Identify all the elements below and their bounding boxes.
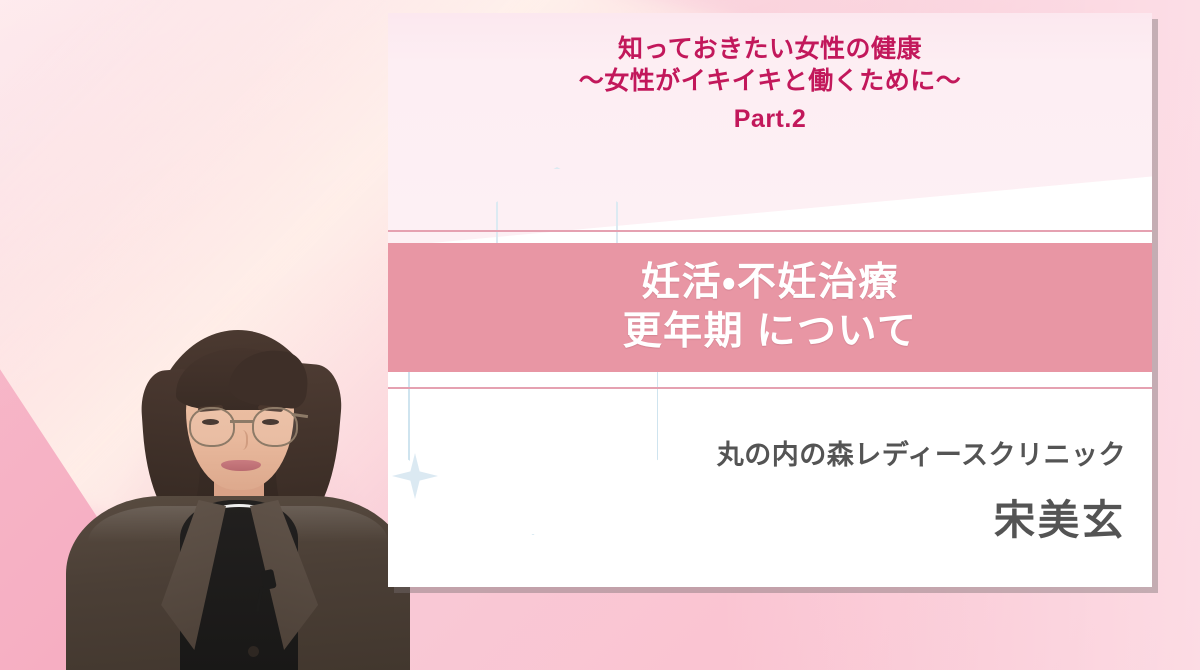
divider-below-banner xyxy=(388,387,1152,389)
slide-title-line-1: 知っておきたい女性の健康 xyxy=(388,33,1152,65)
slide-topic-banner: 妊活・不妊治療 更年期 について xyxy=(388,243,1152,372)
banner-line-1: 妊活・不妊治療 xyxy=(641,260,899,306)
presenter-torso xyxy=(62,496,414,670)
eyeglasses-lens-right-icon xyxy=(252,407,298,447)
slide-title-block: 知っておきたい女性の健康 〜女性がイキイキと働くために〜 Part.2 xyxy=(388,33,1152,135)
eyeglasses-bridge-icon xyxy=(230,420,253,423)
presenter-lips xyxy=(221,460,261,471)
slide-title-part: Part.2 xyxy=(388,103,1152,135)
slide-title-line-2: 〜女性がイキイキと働くために〜 xyxy=(388,65,1152,97)
divider-above-banner xyxy=(388,230,1152,232)
banner-line-2: 更年期 について xyxy=(623,309,918,355)
presentation-slide: 知っておきたい女性の健康 〜女性がイキイキと働くために〜 Part.2 妊活・不… xyxy=(388,13,1152,587)
webinar-slide-screenshot: 知っておきたい女性の健康 〜女性がイキイキと働くために〜 Part.2 妊活・不… xyxy=(0,0,1200,670)
slide-credit-block: 丸の内の森レディースクリニック 宋美玄 xyxy=(717,433,1126,546)
presenter-jacket-button xyxy=(248,646,259,657)
presenter-figure xyxy=(62,314,414,670)
speaker-name: 宋美玄 xyxy=(717,486,1126,546)
eyeglasses-lens-left-icon xyxy=(189,407,235,447)
presenter-nose xyxy=(234,430,248,450)
clinic-name: 丸の内の森レディースクリニック xyxy=(717,433,1126,472)
